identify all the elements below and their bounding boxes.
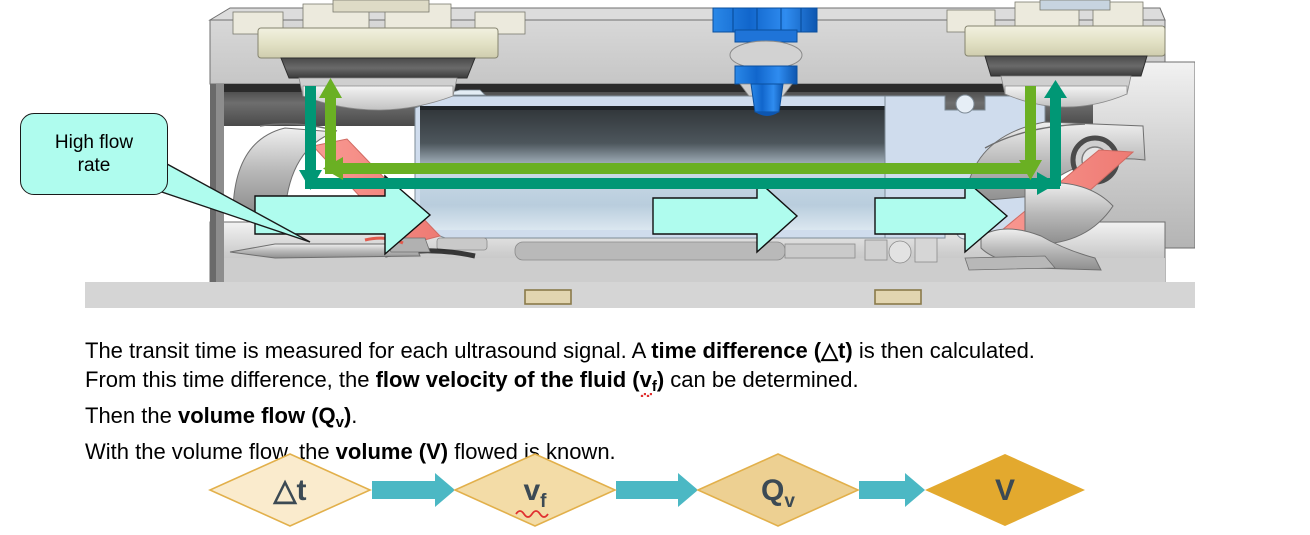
flow-node-dt[interactable]: △t xyxy=(210,454,370,526)
line2-spellcheck-word: v xyxy=(640,365,652,394)
callout-tail-icon xyxy=(150,150,330,260)
line3-subscript-v: v xyxy=(336,414,344,431)
line3-part-c: . xyxy=(351,403,357,428)
flow-connector-arrow-3 xyxy=(859,473,925,507)
callout-line-2: rate xyxy=(55,154,133,177)
line2-term-flow-velocity: flow velocity of the fluid (vf) xyxy=(376,367,665,392)
line2-part-a: From this time difference, the xyxy=(85,367,376,392)
line3-term-volume-flow: volume flow (Qv) xyxy=(178,403,351,428)
flow-node-vf[interactable]: vf xyxy=(455,454,615,526)
text-line-1: The transit time is measured for each ul… xyxy=(85,336,1235,365)
line1-term-time-difference: time difference (△t) xyxy=(651,338,853,363)
line3-b1: volume flow (Q xyxy=(178,403,336,428)
text-line-3: Then the volume flow (Qv). xyxy=(85,401,1235,437)
line2-part-c: can be determined. xyxy=(664,367,858,392)
line2-b1: flow velocity of the fluid ( xyxy=(376,367,640,392)
callout-line-1: High flow xyxy=(55,131,133,154)
slide-root: High flow rate The transit time is measu… xyxy=(0,0,1310,535)
line3-part-a: Then the xyxy=(85,403,178,428)
callout-high-flow-rate: High flow rate xyxy=(20,113,168,195)
flow-chain-svg: △tvfQvV xyxy=(0,450,1310,535)
line1-part-a: The transit time is measured for each ul… xyxy=(85,338,651,363)
flow-node-v[interactable]: V xyxy=(925,454,1085,526)
explanation-text: The transit time is measured for each ul… xyxy=(85,336,1235,466)
flow-node-label-dt: △t xyxy=(272,474,306,507)
text-line-2: From this time difference, the flow velo… xyxy=(85,365,1235,401)
flow-connector-arrow-1 xyxy=(372,473,455,507)
process-flow-chain: △tvfQvV xyxy=(0,450,1310,535)
flow-node-qv[interactable]: Qv xyxy=(698,454,858,526)
flow-node-label-v: V xyxy=(995,474,1015,507)
line1-part-c: is then calculated. xyxy=(853,338,1035,363)
flow-connector-arrow-2 xyxy=(616,473,698,507)
